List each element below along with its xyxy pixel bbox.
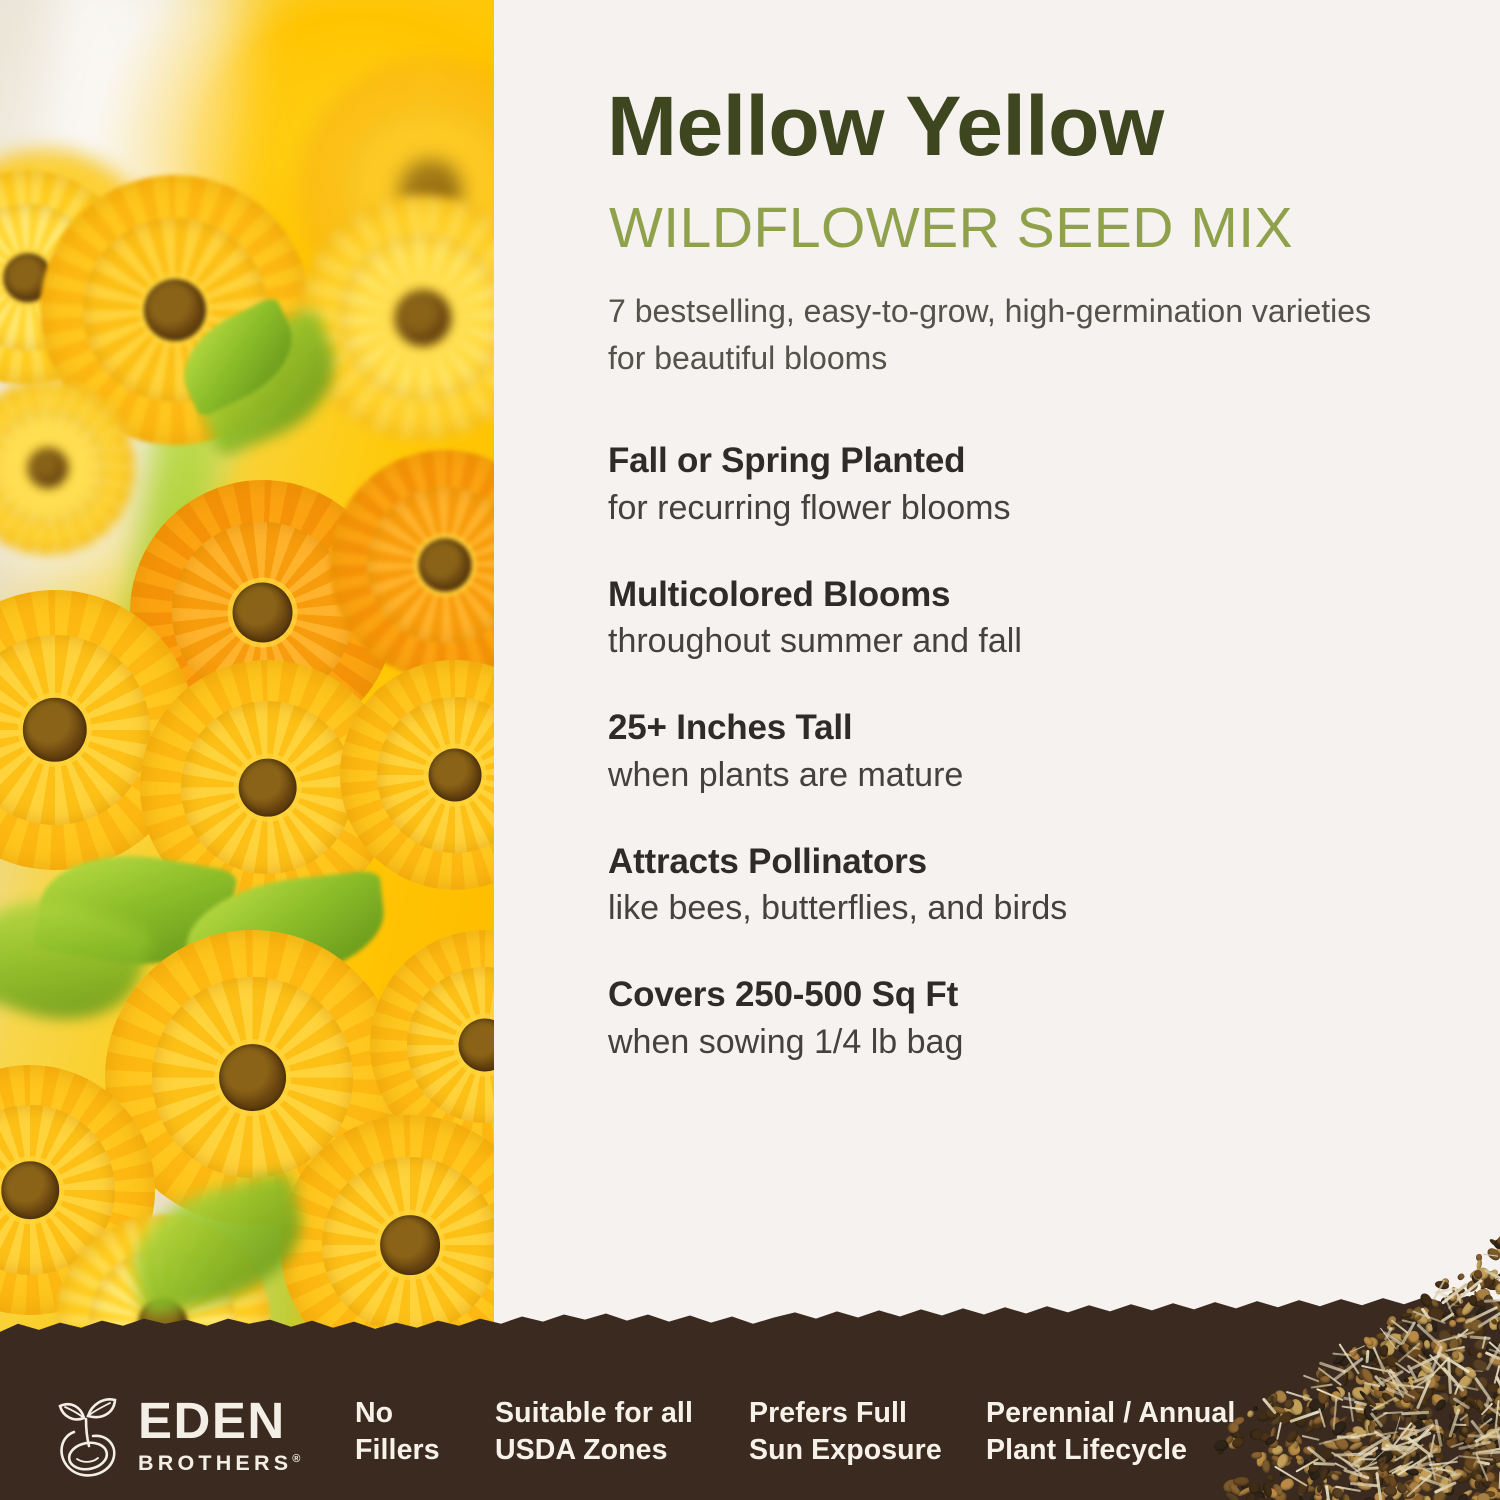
registered-mark-icon: ®	[292, 1453, 300, 1465]
feature-title: Attracts Pollinators	[608, 841, 1408, 884]
feature-item: Multicolored Blooms throughout summer an…	[608, 574, 1408, 664]
product-infographic-card: Mellow Yellow WILDFLOWER SEED MIX 7 best…	[0, 0, 1500, 1500]
feature-item: Covers 250-500 Sq Ft when sowing 1/4 lb …	[608, 974, 1408, 1064]
feature-title: Fall or Spring Planted	[608, 440, 1408, 483]
feature-title: Multicolored Blooms	[608, 574, 1408, 617]
feature-title: Covers 250-500 Sq Ft	[608, 974, 1408, 1017]
feature-title: 25+ Inches Tall	[608, 707, 1408, 750]
sprouting-seed-icon	[52, 1392, 124, 1478]
flower-photo-stage	[0, 0, 494, 1500]
feature-subtitle: when sowing 1/4 lb bag	[608, 1021, 1408, 1064]
footer-facts: No Fillers Suitable for all USDA Zones P…	[355, 1395, 1266, 1470]
product-tagline: 7 bestselling, easy-to-grow, high-germin…	[608, 288, 1378, 381]
feature-subtitle: for recurring flower blooms	[608, 487, 1408, 530]
footer-fact: No Fillers	[355, 1395, 495, 1470]
brand-subname-text: BROTHERS	[138, 1451, 292, 1475]
brand-footer: EDEN BROTHERS® No Fillers Suitable for a…	[0, 1295, 1500, 1500]
flower-photo	[0, 0, 494, 1500]
brand-subname: BROTHERS®	[138, 1453, 300, 1475]
product-title: Mellow Yellow	[607, 84, 1164, 168]
feature-subtitle: throughout summer and fall	[608, 620, 1408, 663]
brand-name: EDEN	[138, 1395, 300, 1446]
feature-subtitle: like bees, butterflies, and birds	[608, 887, 1408, 930]
footer-fact: Perennial / Annual Plant Lifecycle	[986, 1395, 1266, 1470]
content-panel: Mellow Yellow WILDFLOWER SEED MIX 7 best…	[494, 0, 1500, 1500]
brand-wordmark: EDEN BROTHERS®	[138, 1395, 300, 1475]
brand-logo: EDEN BROTHERS®	[52, 1392, 300, 1478]
footer-fact: Prefers Full Sun Exposure	[749, 1395, 986, 1470]
feature-item: 25+ Inches Tall when plants are mature	[608, 707, 1408, 797]
feature-item: Attracts Pollinators like bees, butterfl…	[608, 841, 1408, 931]
feature-list: Fall or Spring Planted for recurring flo…	[608, 440, 1408, 1064]
feature-subtitle: when plants are mature	[608, 754, 1408, 797]
footer-fact: Suitable for all USDA Zones	[495, 1395, 749, 1470]
product-subtitle: WILDFLOWER SEED MIX	[609, 200, 1293, 257]
feature-item: Fall or Spring Planted for recurring flo…	[608, 440, 1408, 530]
